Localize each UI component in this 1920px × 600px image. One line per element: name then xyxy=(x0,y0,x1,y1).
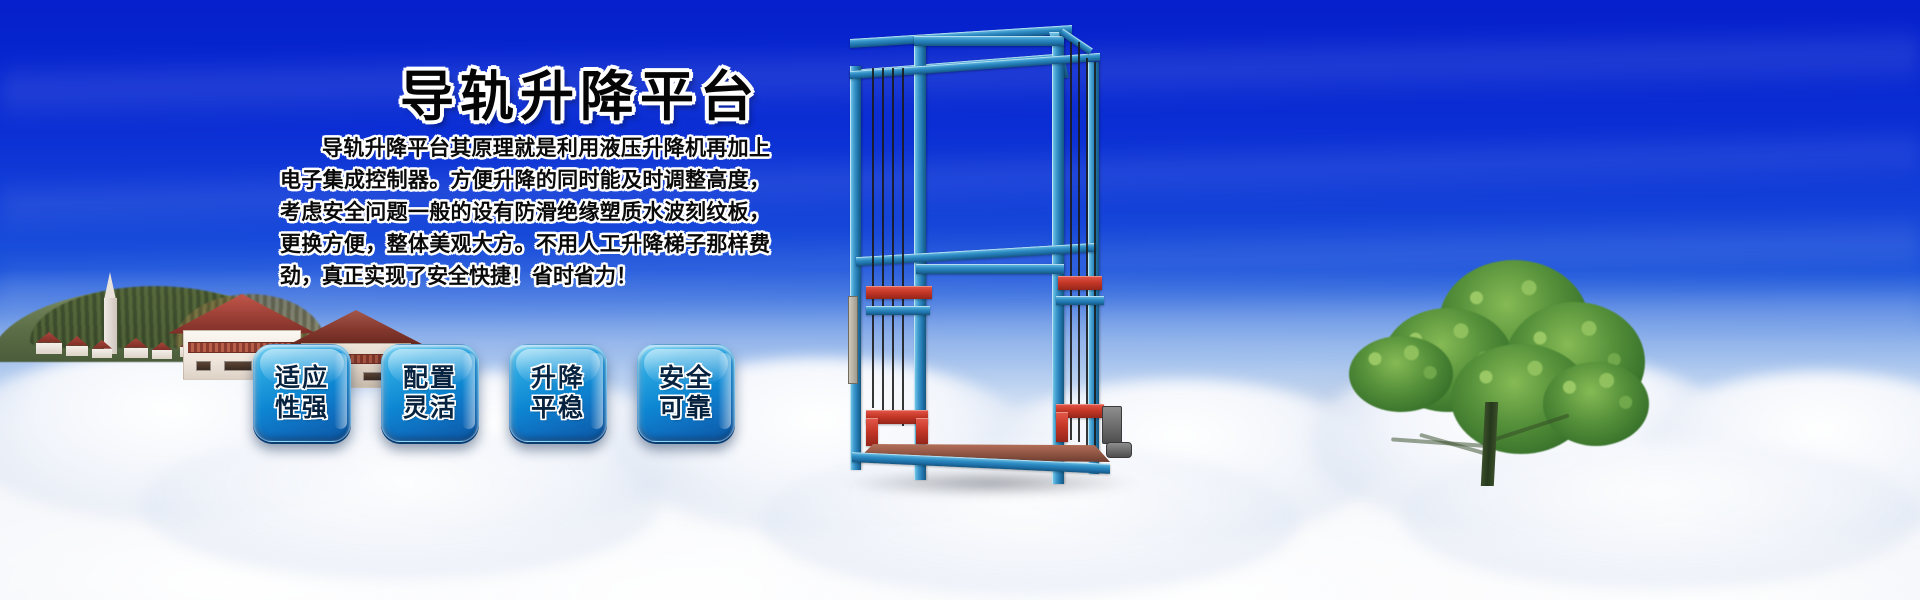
lift-cable xyxy=(892,68,894,420)
feature-button-smooth-lift[interactable]: 升降 平稳 xyxy=(509,344,607,442)
feature-button-safety[interactable]: 安全 可靠 xyxy=(637,344,735,442)
control-box xyxy=(848,296,858,384)
promo-banner: 导轨升降平台 导轨升降平台其原理就是利用液压升降机再加上电子集成控制器。方便升降… xyxy=(0,0,1920,600)
small-house xyxy=(66,336,88,356)
carriage-post-left xyxy=(866,418,878,446)
hydraulic-motor xyxy=(1102,406,1122,444)
description-paragraph: 导轨升降平台其原理就是利用液压升降机再加上电子集成控制器。方便升降的同时能及时调… xyxy=(280,132,770,292)
lift-cable xyxy=(1070,42,1072,440)
small-house xyxy=(124,338,148,358)
feature-label: 适应 性强 xyxy=(275,363,329,423)
top-cross-beam xyxy=(914,36,1064,46)
page-title: 导轨升降平台 xyxy=(300,52,860,131)
lift-cable xyxy=(902,68,904,426)
feature-label: 安全 可靠 xyxy=(659,363,713,423)
small-house xyxy=(92,340,112,358)
lift-cable xyxy=(1086,58,1088,448)
pulley-bracket-left xyxy=(866,306,930,315)
motor-base xyxy=(1106,442,1132,458)
feature-button-configuration[interactable]: 配置 灵活 xyxy=(381,344,479,442)
mid-front-beam xyxy=(916,264,1064,274)
feature-button-row: 适应 性强 配置 灵活 升降 平稳 安全 可靠 xyxy=(253,344,735,442)
church-spire xyxy=(104,272,116,300)
small-house xyxy=(36,332,62,354)
tree-canopy xyxy=(1543,362,1649,446)
lift-cable xyxy=(872,68,874,408)
lift-cable xyxy=(1094,62,1096,448)
carriage-post-right xyxy=(1056,412,1068,442)
small-house xyxy=(152,342,172,359)
lift-cable xyxy=(882,68,884,414)
feature-label: 配置 灵活 xyxy=(403,363,457,423)
carriage-head-left xyxy=(866,286,932,299)
cloud-lump xyxy=(140,430,660,580)
carriage-head-right xyxy=(1058,276,1102,290)
top-diagonal-beam xyxy=(1059,29,1093,55)
lift-cable xyxy=(1078,42,1080,442)
product-image-lift-platform xyxy=(830,18,1140,488)
carriage-post-left xyxy=(916,418,928,444)
tree-scene xyxy=(1355,252,1655,482)
pulley-bracket-right xyxy=(1056,296,1104,305)
feature-button-adaptability[interactable]: 适应 性强 xyxy=(253,344,351,442)
tree-canopy xyxy=(1349,336,1453,412)
feature-label: 升降 平稳 xyxy=(531,363,585,423)
